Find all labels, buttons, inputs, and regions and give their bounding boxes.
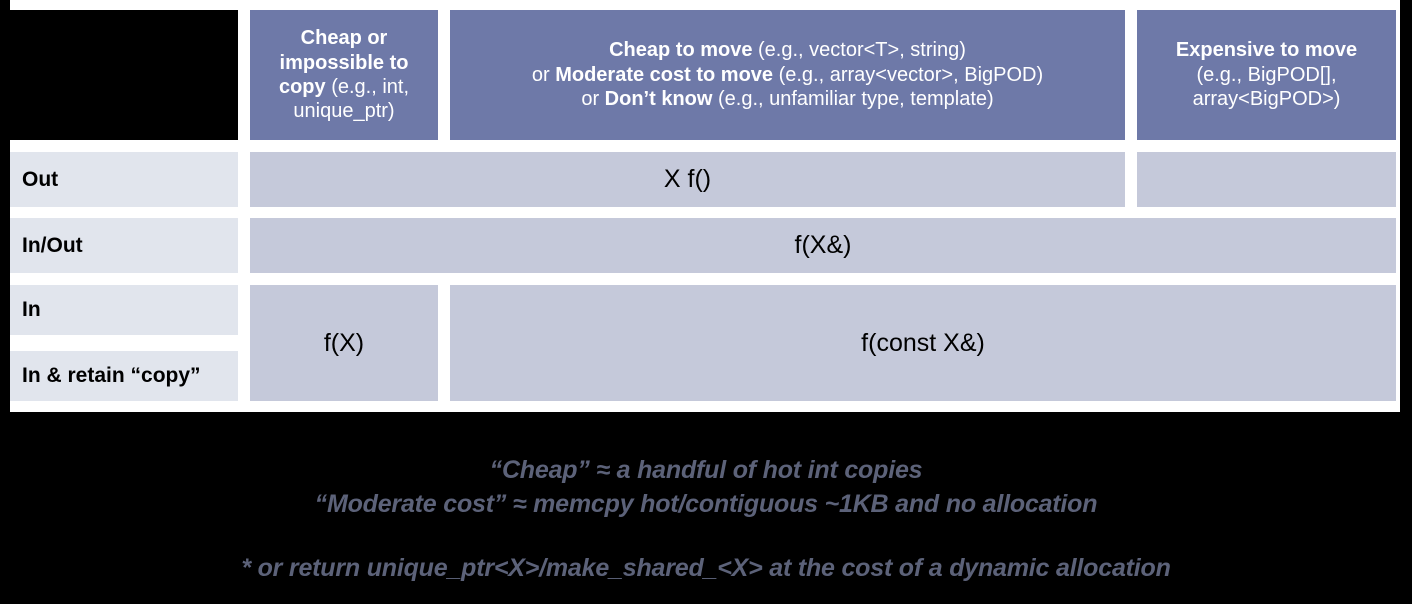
header-line-1: Cheap or [301,26,388,50]
column-header-expensive-move: Expensive to move (e.g., BigPOD[], array… [1137,10,1396,140]
table-corner-cell [10,10,238,140]
header-line-1: Expensive to move [1176,38,1357,62]
header-line-3: or Don’t know (e.g., unfamiliar type, te… [581,87,993,111]
header-line-2: (e.g., BigPOD[], [1196,63,1336,87]
footnote-return-smart-pointer: * or return unique_ptr<X>/make_shared_<X… [0,554,1412,583]
footnote-cheap-definition: “Cheap” ≈ a handful of hot int copies [0,456,1412,485]
parameter-passing-table: Cheap or impossible to copy (e.g., int, … [0,0,1412,412]
header-line-4: unique_ptr) [293,99,394,123]
header-line-3: array<BigPOD>) [1193,87,1341,111]
row-label-out: Out [10,152,238,207]
column-header-cheap-copy: Cheap or impossible to copy (e.g., int, … [250,10,438,140]
row-label-in-retain-copy: In & retain “copy” [10,351,238,401]
header-line-3: copy (e.g., int, [279,75,409,99]
data-cell-in-f-const-xref: f(const X&) [450,285,1396,401]
data-cell-inout-f-xref: f(X&) [250,218,1396,273]
row-label-in: In [10,285,238,335]
header-line-1: Cheap to move (e.g., vector<T>, string) [609,38,966,62]
sheet-edge-right [1400,0,1412,412]
data-cell-out-x-f: X f() [250,152,1125,207]
footnotes-region: “Cheap” ≈ a handful of hot int copies “M… [0,412,1412,604]
row-label-in-out: In/Out [10,218,238,273]
header-line-2: or Moderate cost to move (e.g., array<ve… [532,63,1043,87]
data-cell-out-expensive-empty [1137,152,1396,207]
data-cell-in-f-x: f(X) [250,285,438,401]
sheet-edge-left [0,0,10,412]
column-header-cheap-moderate-unknown: Cheap to move (e.g., vector<T>, string) … [450,10,1125,140]
header-line-2: impossible to [280,51,409,75]
footnote-moderate-cost-definition: “Moderate cost” ≈ memcpy hot/contiguous … [0,490,1412,519]
